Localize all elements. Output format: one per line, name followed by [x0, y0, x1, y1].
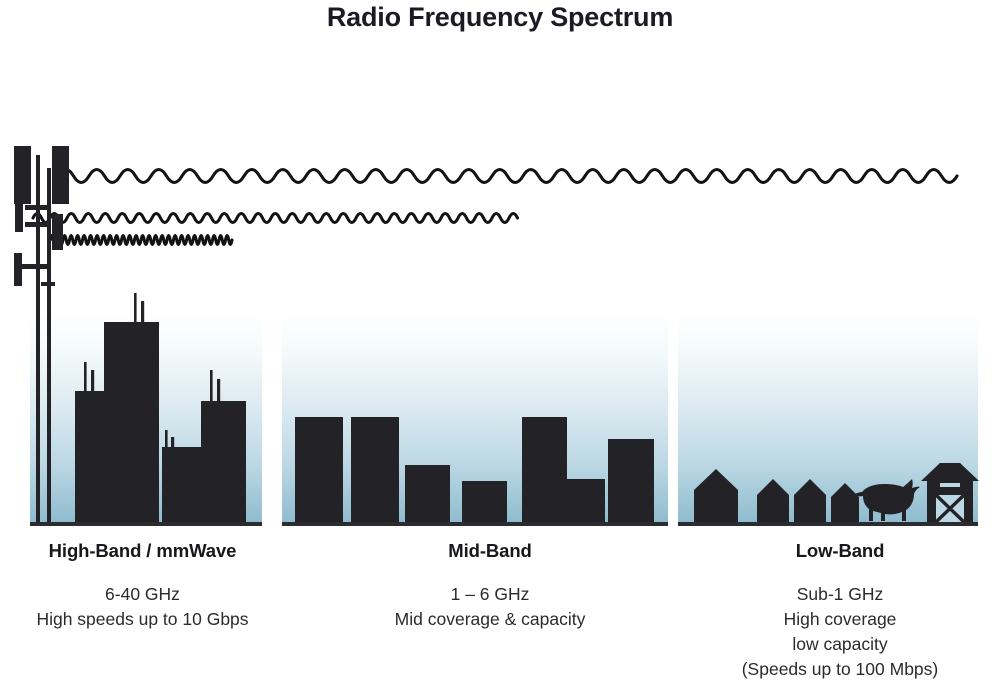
- band-title-high: High-Band / mmWave: [0, 540, 285, 562]
- skyscraper-icon: [104, 322, 159, 522]
- band-detail-low-3: (Speeds up to 100 Mbps): [690, 657, 990, 682]
- band-title-mid: Mid-Band: [340, 540, 640, 562]
- radio-waves: [33, 170, 957, 245]
- band-detail-mid-1: Mid coverage & capacity: [340, 607, 640, 632]
- band-detail-low-0: Sub-1 GHz: [690, 582, 990, 607]
- skyscraper-icon: [201, 401, 246, 522]
- barn-window: [940, 483, 960, 487]
- building-icon: [405, 465, 450, 522]
- ground-line-high: [30, 522, 262, 526]
- band-detail-low-2: low capacity: [690, 632, 990, 657]
- caption-high-band: High-Band / mmWave 6-40 GHz High speeds …: [0, 540, 285, 632]
- building-icon: [351, 417, 399, 522]
- ground-line-low: [678, 522, 978, 526]
- building-icon: [522, 417, 567, 522]
- band-detail-high-0: 6-40 GHz: [0, 582, 285, 607]
- building-icon: [567, 479, 605, 522]
- mid-band-wave: [33, 214, 518, 223]
- caption-low-band: Low-Band Sub-1 GHz High coverage low cap…: [690, 540, 990, 682]
- ground-line-mid: [282, 522, 668, 526]
- building-icon: [295, 417, 343, 522]
- building-icon: [462, 481, 507, 522]
- band-detail-high-1: High speeds up to 10 Gbps: [0, 607, 285, 632]
- band-title-low: Low-Band: [690, 540, 990, 562]
- skyscraper-icon: [162, 447, 201, 522]
- low-band-wave: [58, 170, 957, 183]
- ground-lines: [30, 522, 978, 526]
- building-icon: [608, 439, 654, 522]
- caption-mid-band: Mid-Band 1 – 6 GHz Mid coverage & capaci…: [340, 540, 640, 632]
- high-band-wave: [50, 236, 232, 245]
- infographic-canvas: Radio Frequency Spectrum: [0, 0, 1000, 700]
- band-captions: High-Band / mmWave 6-40 GHz High speeds …: [0, 540, 1000, 700]
- band-detail-low-1: High coverage: [690, 607, 990, 632]
- band-detail-mid-0: 1 – 6 GHz: [340, 582, 640, 607]
